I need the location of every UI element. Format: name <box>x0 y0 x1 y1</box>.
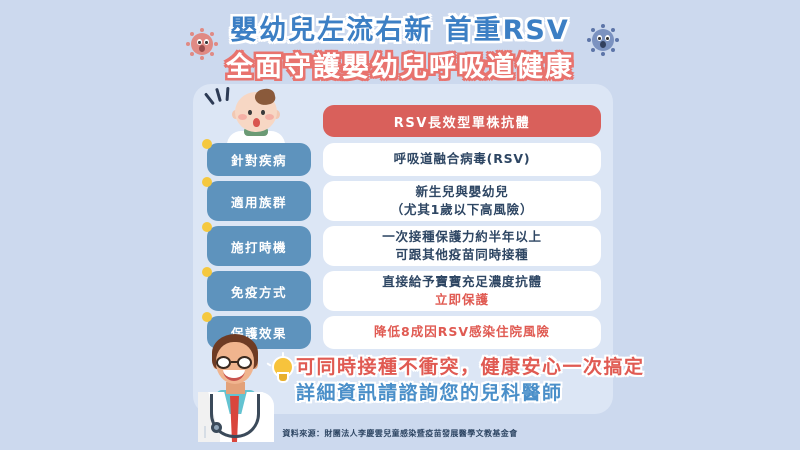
tab-dot-icon <box>202 177 212 187</box>
tab-dot-icon <box>202 139 212 149</box>
row-value-line-1: 一次接種保護力約半年以上 <box>382 228 542 246</box>
callout-line-1: 可同時接種不衝突，健康安心一次搞定 <box>296 355 606 381</box>
table-row: 免疫方式 直接給予寶寶充足濃度抗體 立即保護 <box>193 271 613 311</box>
doctor-illustration <box>196 334 274 442</box>
table-row: 針對疾病 呼吸道融合病毒(RSV) <box>193 143 613 176</box>
poster-header: 嬰幼兒左流右新 首重RSV 全面守護嬰幼兒呼吸道健康 <box>0 0 800 86</box>
poster-title-line-1: 嬰幼兒左流右新 首重RSV <box>0 8 800 47</box>
row-label-text: 適用族群 <box>231 192 287 211</box>
row-label-text: 免疫方式 <box>231 282 287 301</box>
lightbulb-icon <box>272 358 294 386</box>
row-label-text: 針對疾病 <box>231 150 287 169</box>
row-value-line-2: 可跟其他疫苗同時接種 <box>395 246 528 264</box>
row-value-line-2: （尤其1歲以下高風險） <box>391 201 534 219</box>
row-value-immunity: 直接給予寶寶充足濃度抗體 立即保護 <box>323 271 601 311</box>
row-label-text: 施打時機 <box>231 237 287 256</box>
source-footer: 資料來源：財團法人李慶雲兒童感染暨疫苗發展醫學文教基金會 <box>0 428 800 439</box>
product-name-pill: RSV長效型單株抗體 <box>323 105 601 137</box>
table-row: 適用族群 新生兒與嬰幼兒 （尤其1歲以下高風險） <box>193 181 613 221</box>
row-value-disease: 呼吸道融合病毒(RSV) <box>323 143 601 176</box>
row-value-highlight: 降低8成因RSV感染住院風險 <box>374 323 550 341</box>
poster-title-line-2: 全面守護嬰幼兒呼吸道健康 <box>0 45 800 84</box>
row-label-timing: 施打時機 <box>207 226 311 266</box>
tab-dot-icon <box>202 267 212 277</box>
row-label-disease: 針對疾病 <box>207 143 311 176</box>
tab-dot-icon <box>202 312 212 322</box>
row-value-population: 新生兒與嬰幼兒 （尤其1歲以下高風險） <box>323 181 601 221</box>
row-label-population: 適用族群 <box>207 181 311 221</box>
row-value-timing: 一次接種保護力約半年以上 可跟其他疫苗同時接種 <box>323 226 601 266</box>
row-value-highlight: 立即保護 <box>435 291 489 309</box>
tab-dot-icon <box>202 222 212 232</box>
poster-root: 嬰幼兒左流右新 首重RSV 全面守護嬰幼兒呼吸道健康 <box>0 0 800 450</box>
row-value-efficacy: 降低8成因RSV感染住院風險 <box>323 316 601 349</box>
row-value-line-1: 呼吸道融合病毒(RSV) <box>394 150 531 168</box>
callout-block: 可同時接種不衝突，健康安心一次搞定 詳細資訊請諮詢您的兒科醫師 <box>296 355 606 406</box>
table-head-row: RSV長效型單株抗體 <box>193 105 613 137</box>
callout-line-2: 詳細資訊請諮詢您的兒科醫師 <box>296 381 606 407</box>
row-value-line-1: 新生兒與嬰幼兒 <box>415 183 508 201</box>
virus-blue-icon <box>583 20 623 60</box>
row-label-immunity: 免疫方式 <box>207 271 311 311</box>
row-value-line-1: 直接給予寶寶充足濃度抗體 <box>382 273 542 291</box>
table-row: 施打時機 一次接種保護力約半年以上 可跟其他疫苗同時接種 <box>193 226 613 266</box>
